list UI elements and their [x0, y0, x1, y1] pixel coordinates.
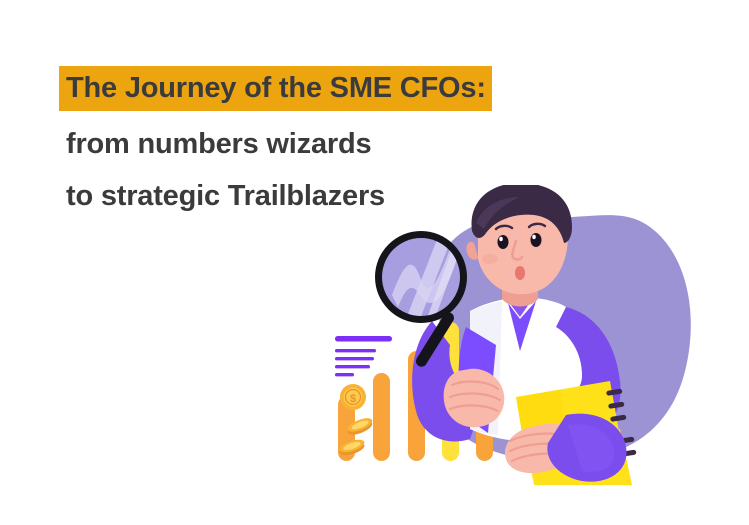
svg-text:$: $: [350, 393, 356, 405]
hero-illustration: $: [320, 185, 720, 485]
chart-bar-2: [373, 373, 390, 461]
headline-line-2: from numbers wizards: [66, 121, 586, 167]
headline-line-1: The Journey of the SME CFOs:: [59, 66, 492, 111]
poster-canvas: The Journey of the SME CFOs: from number…: [0, 0, 749, 525]
document-lines-icon: [335, 336, 392, 376]
